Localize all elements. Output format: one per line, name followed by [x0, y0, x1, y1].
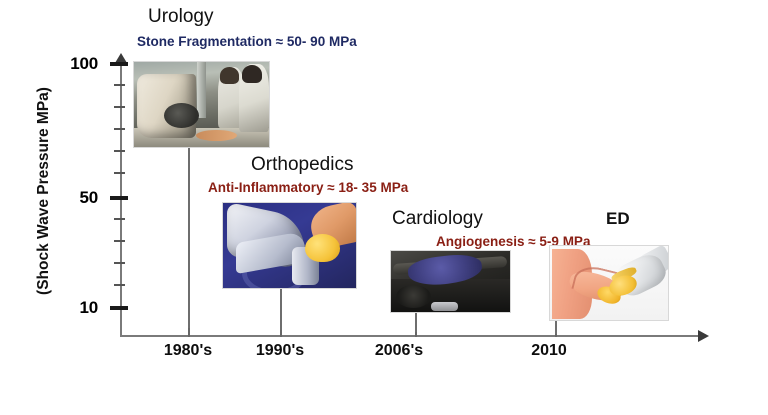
y-minor-tick	[114, 84, 125, 86]
y-tick-50	[110, 196, 128, 200]
y-tick-label-50: 50	[38, 188, 98, 208]
y-minor-tick	[114, 106, 125, 108]
x-tick-label-1990s: 1990's	[225, 342, 335, 360]
y-minor-tick	[114, 284, 125, 286]
x-tick-label-2006s: 2006's	[344, 342, 454, 360]
label-urology-title: Urology	[148, 6, 213, 28]
connector-ed	[555, 320, 557, 334]
y-tick-10	[110, 306, 128, 310]
x-axis-arrow-icon	[698, 330, 709, 342]
image-orthopedics-applicator	[222, 202, 357, 289]
image-urology-lithotripsy	[133, 61, 270, 148]
label-orthopedics-subtitle: Anti-Inflammatory ≈ 18- 35 MPa	[208, 180, 408, 195]
label-urology-subtitle: Stone Fragmentation ≈ 50- 90 MPa	[137, 34, 357, 49]
chart-canvas: (Shock Wave Pressure MPa) 100 50 10 1980…	[0, 0, 768, 415]
label-orthopedics-title: Orthopedics	[251, 154, 353, 176]
y-minor-tick	[114, 240, 125, 242]
x-axis-line	[120, 335, 700, 337]
y-minor-tick	[114, 218, 125, 220]
connector-urology	[188, 148, 190, 328]
y-tick-label-100: 100	[38, 54, 98, 74]
label-cardiology-title: Cardiology	[392, 208, 483, 230]
y-minor-tick	[114, 128, 125, 130]
y-tick-label-10: 10	[38, 298, 98, 318]
y-minor-tick	[114, 150, 125, 152]
connector-orthopedics	[280, 288, 282, 330]
y-minor-tick	[114, 172, 125, 174]
image-cardiology-device	[390, 250, 511, 313]
label-ed-title: ED	[606, 209, 630, 229]
connector-cardiology	[415, 312, 417, 332]
x-tick-label-2010: 2010	[494, 342, 604, 360]
y-minor-tick	[114, 262, 125, 264]
image-ed-illustration	[549, 245, 669, 321]
y-tick-100	[110, 62, 128, 66]
